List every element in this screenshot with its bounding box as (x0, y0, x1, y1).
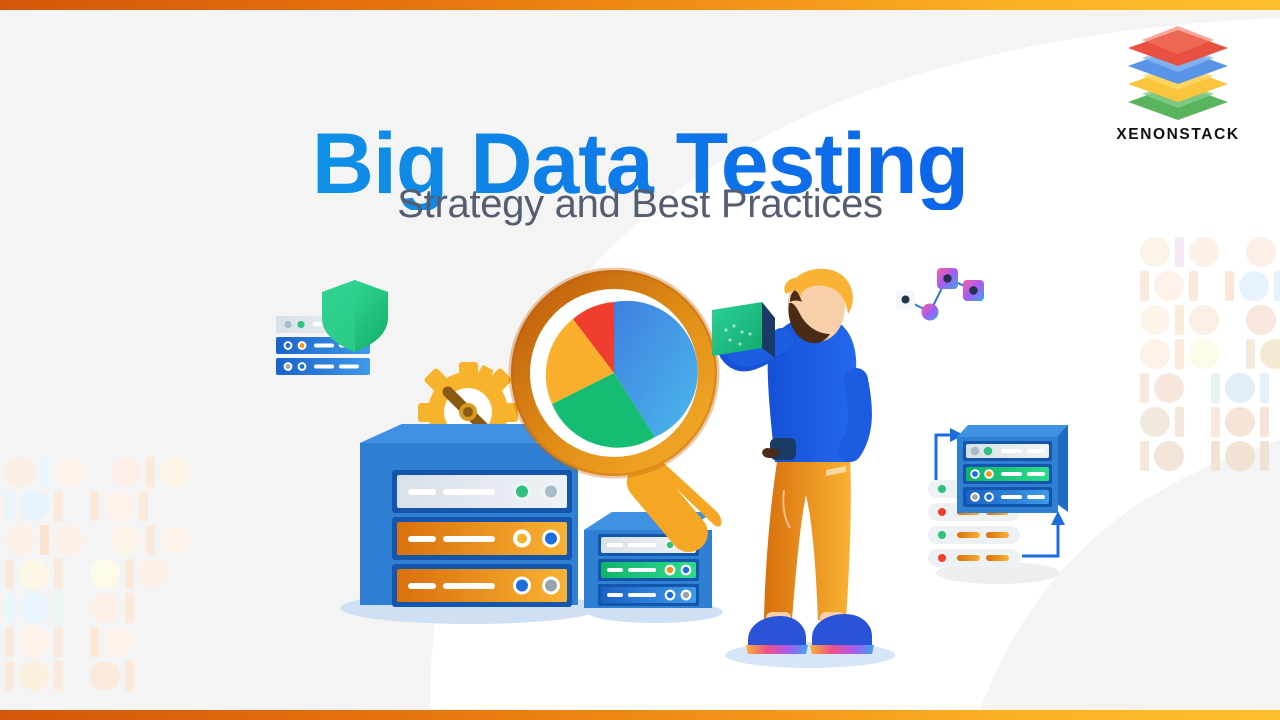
flow-arrow-up-left (936, 435, 952, 480)
top-accent-bar (0, 0, 1280, 10)
illustration-big-data-testing (0, 0, 1280, 720)
brand-logo[interactable]: XENONSTACK (1098, 22, 1258, 144)
bottom-accent-bar (0, 710, 1280, 720)
brand-name: XENONSTACK (1098, 126, 1258, 144)
xenonstack-logo-icon (1118, 22, 1238, 122)
poster-canvas: Big Data Testing Strategy and Best Pract… (0, 0, 1280, 720)
right-server-rack (957, 425, 1068, 513)
pie-chart-in-magnifier (511, 270, 717, 476)
arrowhead-right (1051, 511, 1065, 525)
clipboard-tablet (712, 302, 775, 358)
status-pill (928, 526, 1020, 544)
flow-arrow-up-right (1022, 523, 1058, 556)
status-pill (928, 549, 1020, 567)
network-nodes-icon (896, 268, 984, 321)
page-subtitle: Strategy and Best Practices (0, 182, 1280, 227)
character-analyst (712, 269, 874, 654)
